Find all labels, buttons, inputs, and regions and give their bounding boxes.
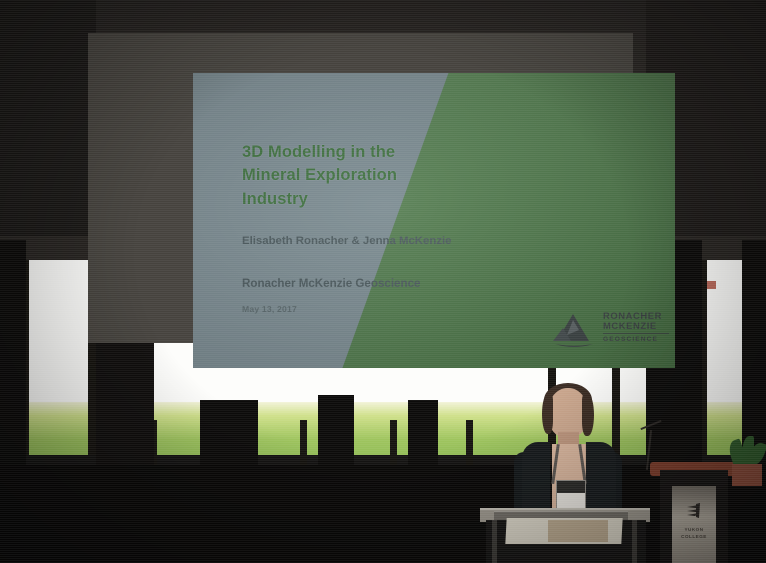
presentation-slide: 3D Modelling in the Mineral Exploration … <box>193 73 675 368</box>
plant-pot <box>732 464 762 486</box>
logo-line-2: MCKENZIE <box>603 321 673 331</box>
lectern-leg-right <box>632 520 637 563</box>
curtain-left-edge <box>0 240 26 500</box>
logo-line-3: GEOSCIENCE <box>603 336 673 343</box>
slide-organization: Ronacher McKenzie Geoscience <box>242 276 492 292</box>
presentation-photo-scene: 3D Modelling in the Mineral Exploration … <box>0 0 766 563</box>
foreground-wall <box>0 465 766 563</box>
logo-wordmark: RONACHER MCKENZIE GEOSCIENCE <box>603 311 673 343</box>
podium-line-2: COLLEGE <box>672 534 716 541</box>
lectern-leg-left <box>492 520 497 563</box>
room-wall-left <box>0 0 96 250</box>
company-logo: RONACHER MCKENZIE GEOSCIENCE <box>551 309 669 361</box>
window-mullion <box>466 420 473 465</box>
presenter-hair-left <box>542 394 553 434</box>
logo-divider <box>603 333 669 334</box>
slide-authors: Elisabeth Ronacher & Jenna McKenzie <box>242 233 457 250</box>
window-mullion <box>390 420 397 465</box>
podium-line-1: YUKON <box>672 527 716 534</box>
raven-icon <box>684 502 706 524</box>
podium-wordmark: YUKON COLLEGE <box>672 527 716 540</box>
slide-date: May 13, 2017 <box>242 304 297 314</box>
paper-stack-secondary <box>548 520 608 542</box>
potted-plant <box>728 436 766 486</box>
mountain-icon <box>551 311 597 351</box>
window-mullion <box>300 420 307 465</box>
badge-header <box>557 481 585 493</box>
slide-title: 3D Modelling in the Mineral Exploration … <box>242 141 457 211</box>
podium-front-panel <box>672 486 716 563</box>
projection-screen: 3D Modelling in the Mineral Exploration … <box>88 33 633 343</box>
presenter-hair-right <box>582 394 594 436</box>
